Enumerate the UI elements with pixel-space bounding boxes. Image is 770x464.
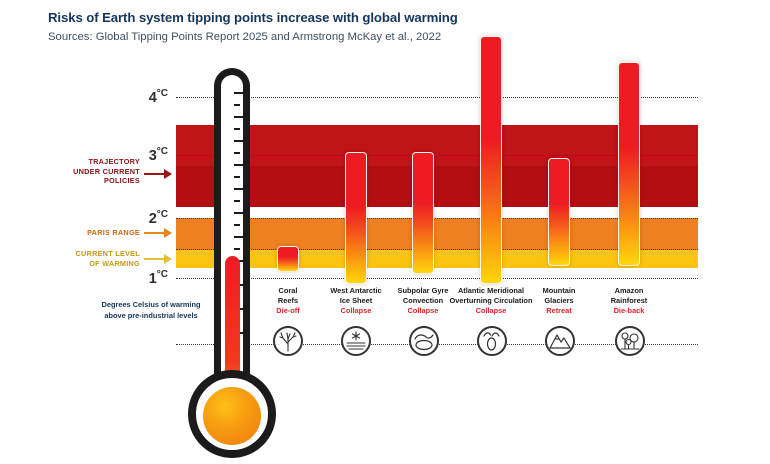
annotation-current-warming-line2: OF WARMING xyxy=(30,259,140,269)
axis-unit: °C xyxy=(157,209,168,220)
annotation-trajectory-line1: TRAJECTORY xyxy=(40,157,140,167)
thermometer-bulb-fill xyxy=(203,387,261,445)
annotation-paris-range-line1: PARIS RANGE xyxy=(40,228,140,238)
category-event: Die-back xyxy=(577,306,681,316)
annotation-trajectory-line2: UNDER CURRENT xyxy=(40,167,140,177)
coral-icon xyxy=(273,326,303,356)
bar-coral-reefs[interactable] xyxy=(277,246,299,272)
bar-mountain-glaciers[interactable] xyxy=(548,158,570,266)
annotation-trajectory-arrow-icon xyxy=(144,168,174,180)
bar-atlantic-meridional-overturning-circulation[interactable] xyxy=(480,36,502,284)
axis-unit: °C xyxy=(157,269,168,280)
annotation-trajectory: TRAJECTORY UNDER CURRENT POLICIES xyxy=(40,157,140,186)
bar-west-antarctic-ice-sheet[interactable] xyxy=(345,152,367,284)
axis-tick-1c-value: 1 xyxy=(149,271,157,287)
ice-sheet-icon xyxy=(341,326,371,356)
bar-subpolar-gyre-convection[interactable] xyxy=(412,152,434,274)
global-warming-thermometer xyxy=(172,60,292,440)
infographic-root: Risks of Earth system tipping points inc… xyxy=(0,0,770,464)
axis-tick-4c-value: 4 xyxy=(149,90,157,106)
axis-unit: °C xyxy=(157,88,168,99)
ocean-gyre-icon xyxy=(409,326,439,356)
chart-plot-area: 4°C 3°C 2°C 1°C TRAJECTORY UNDER CURRENT… xyxy=(0,0,770,464)
annotation-current-warming-line1: CURRENT LEVEL xyxy=(30,249,140,259)
axis-unit: °C xyxy=(157,146,168,157)
category-amazon-rainforest: Amazon Rainforest Die-back xyxy=(577,286,681,316)
category-label-line2: Rainforest xyxy=(577,296,681,306)
rainforest-icon xyxy=(615,326,645,356)
annotation-paris-range-arrow-icon xyxy=(144,227,174,239)
mountain-icon xyxy=(545,326,575,356)
category-label-line1: Amazon xyxy=(577,286,681,296)
annotation-current-warming-arrow-icon xyxy=(144,253,174,265)
axis-tick-3c-value: 3 xyxy=(149,148,157,164)
bar-amazon-rainforest[interactable] xyxy=(618,62,640,266)
ocean-current-icon xyxy=(477,326,507,356)
annotation-current-warming: CURRENT LEVEL OF WARMING xyxy=(30,249,140,268)
annotation-paris-range: PARIS RANGE xyxy=(40,228,140,238)
axis-tick-2c-value: 2 xyxy=(149,211,157,227)
annotation-trajectory-line3: POLICIES xyxy=(40,176,140,186)
